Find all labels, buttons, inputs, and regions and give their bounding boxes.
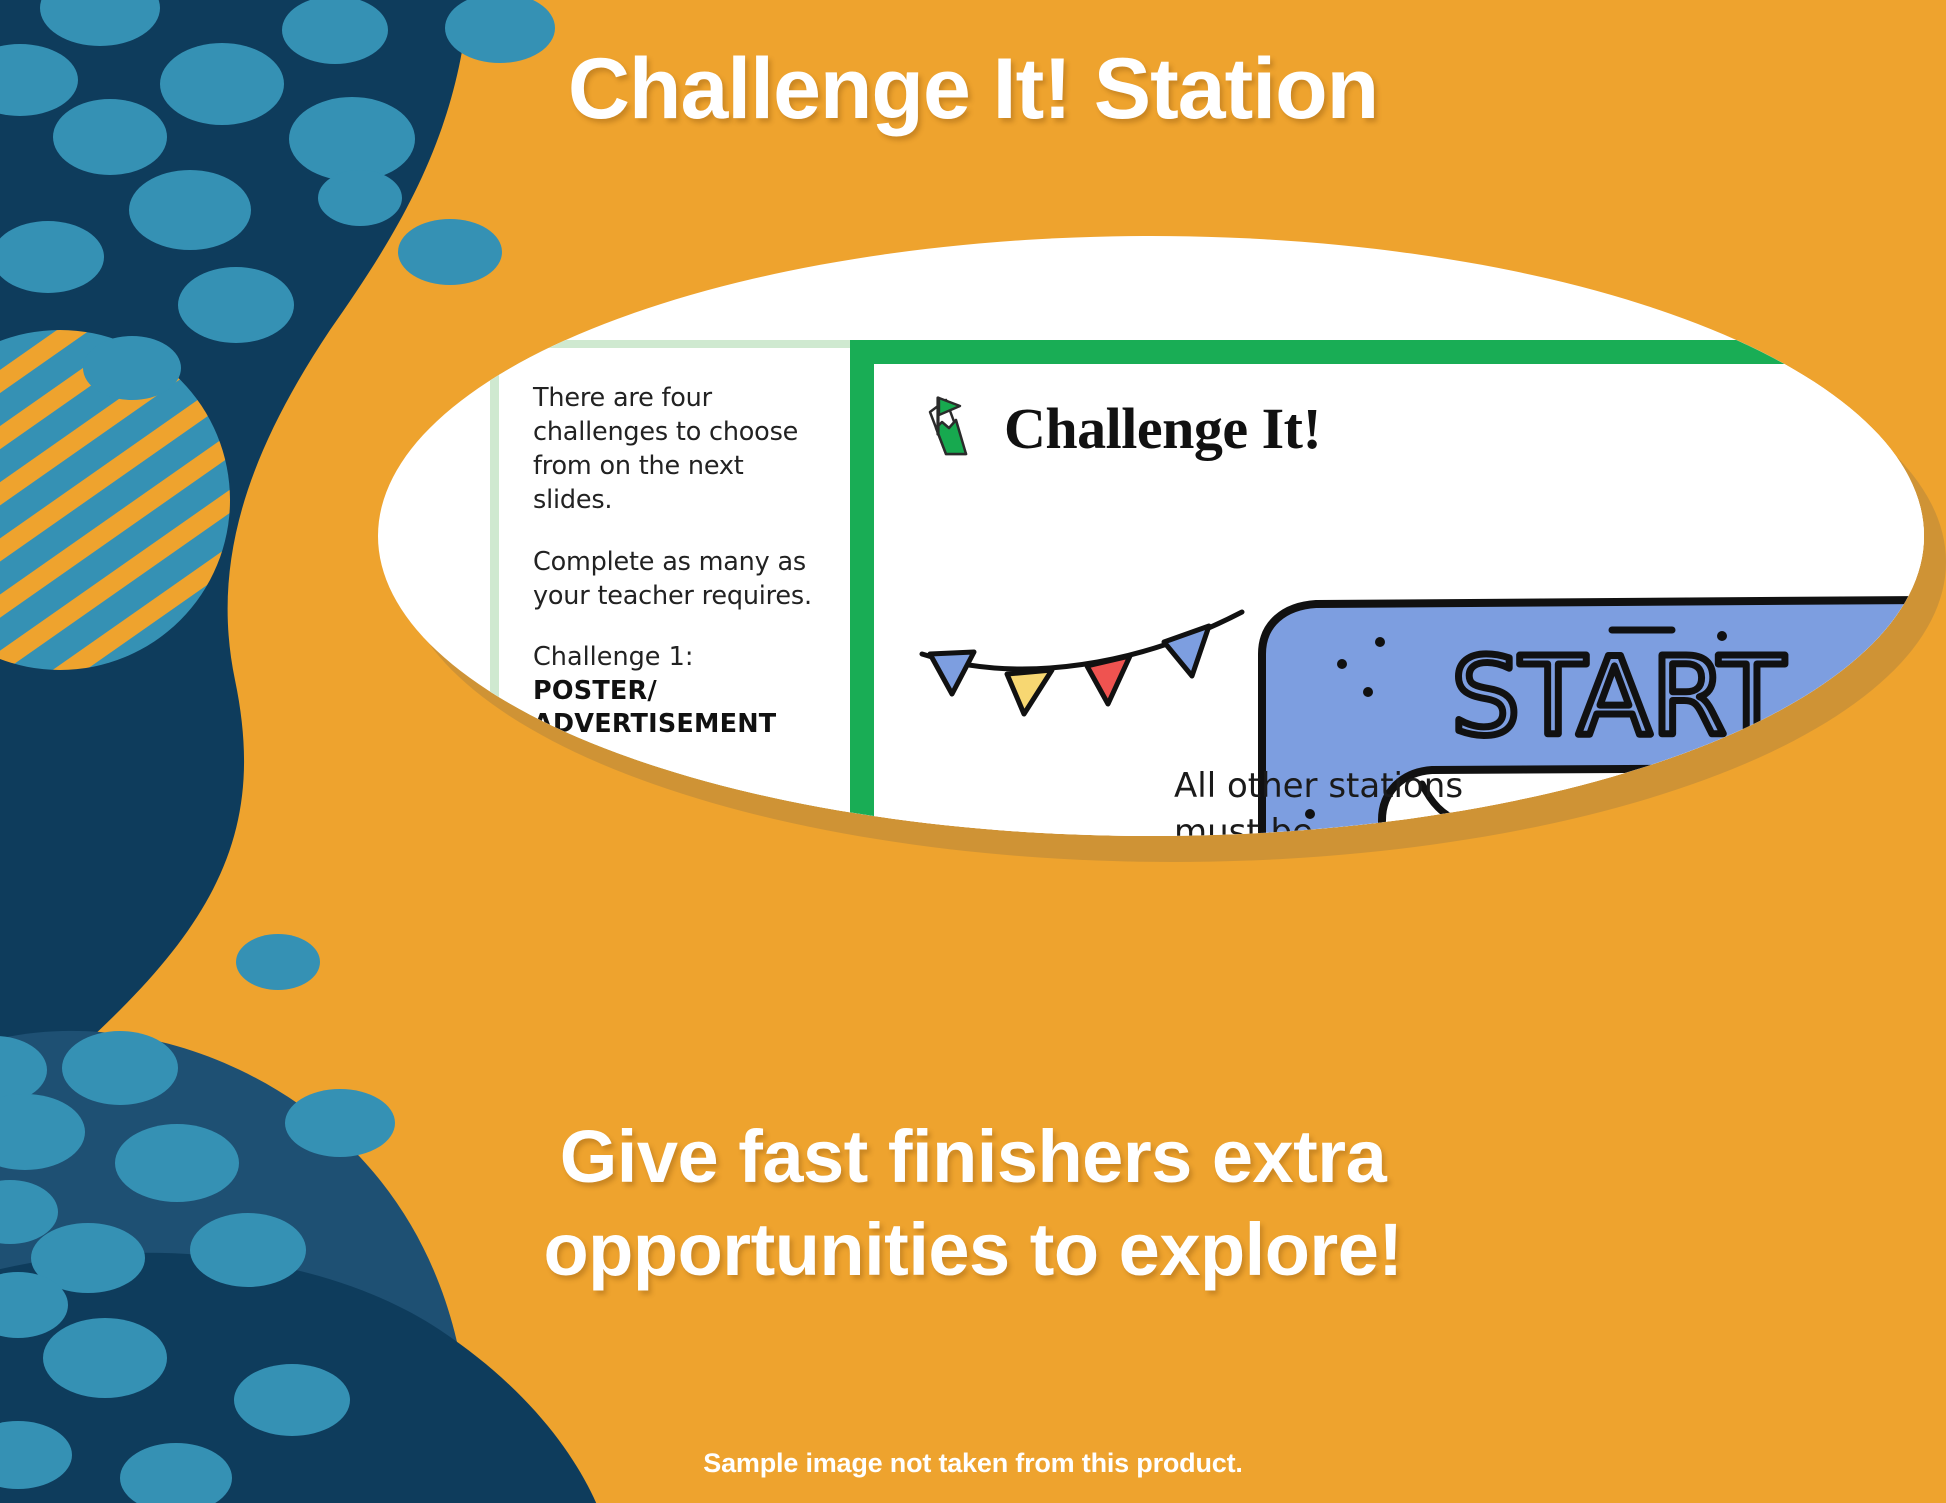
slide-left-inner: There are four challenges to choose from…	[499, 348, 850, 836]
page-title: Challenge It! Station	[0, 44, 1946, 134]
slide-left-panel: There are four challenges to choose from…	[490, 340, 850, 836]
challenge-1-name: POSTER/ ADVERTISEMENT	[533, 675, 824, 741]
subtitle-line-2: opportunities to explore!	[0, 1203, 1946, 1296]
slide-right-title: Challenge It!	[1004, 395, 1321, 462]
slide-right-panel: Challenge It!	[850, 340, 1924, 836]
subtitle-line-1: Give fast finishers extra	[0, 1110, 1946, 1203]
challenge-item-1: Challenge 1: POSTER/ ADVERTISEMENT	[533, 641, 824, 740]
sample-image-note: Sample image not taken from this product…	[0, 1448, 1946, 1479]
left-paragraph-2: Complete as many as your teacher require…	[533, 546, 824, 614]
slide-body-text: All other stations must be...	[1174, 764, 1463, 836]
oval-mask: There are four challenges to choose from…	[378, 236, 1924, 836]
challenge-2-label: Challenge 2:	[533, 773, 824, 806]
slide-right-header: Challenge It!	[874, 364, 1924, 464]
challenge-item-2: Challenge 2: SYMBIOSIS BOOKMARK	[533, 773, 824, 836]
mountain-with-flag-icon	[916, 392, 978, 464]
bunting-banner	[922, 612, 1242, 714]
slide-preview-oval: There are four challenges to choose from…	[378, 236, 1946, 856]
challenge-2-name: SYMBIOSIS BOOKMARK	[533, 806, 824, 836]
left-paragraph-1: There are four challenges to choose from…	[533, 382, 824, 518]
challenge-1-label: Challenge 1:	[533, 641, 824, 674]
subtitle: Give fast finishers extra opportunities …	[0, 1110, 1946, 1296]
stray-dot-lower	[236, 934, 320, 990]
stray-dot-upper	[318, 170, 402, 226]
slide-screenshot: There are four challenges to choose from…	[490, 340, 1924, 836]
start-arch-label: START	[1451, 635, 1785, 760]
